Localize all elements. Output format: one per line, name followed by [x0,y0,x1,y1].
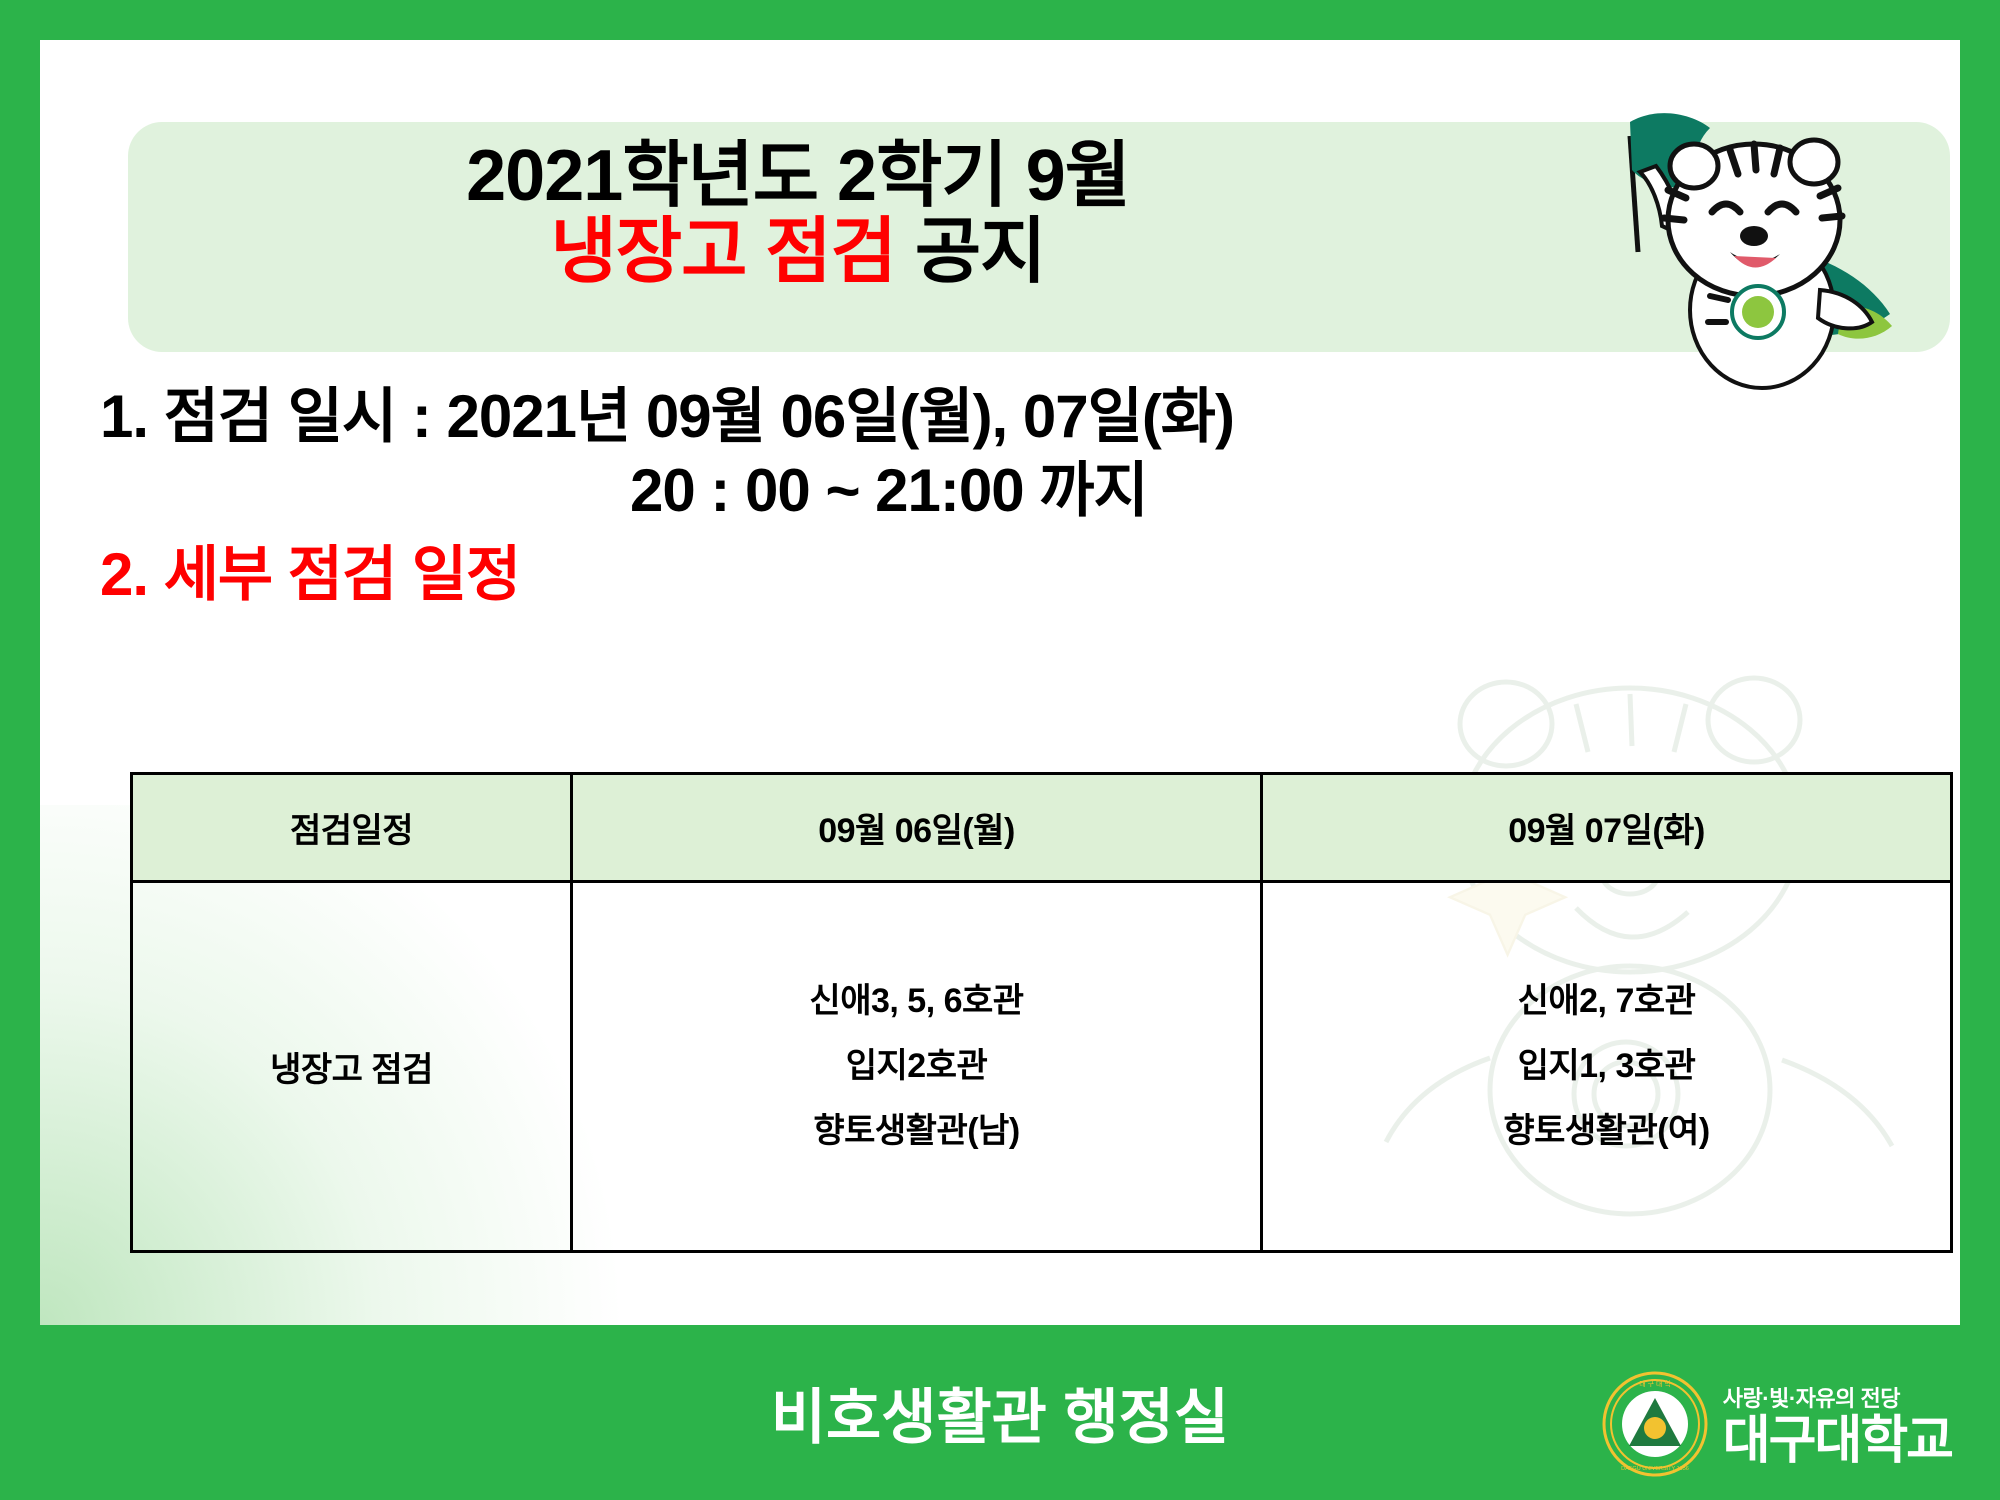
logo-tagline: 사랑·빛·자유의 전당 [1723,1381,1952,1413]
cell-day2-line-2: 입지1, 3호관 [1263,1034,1950,1099]
footer-bar: 비호생활관 행정실 대 구 대 학 DAEGU UNIVERSITY 1956 … [0,1325,2000,1500]
notice-poster: 2021학년도 2학기 9월 냉장고 점검 공지 [0,0,2000,1500]
body-text-block: 1. 점검 일시 : 2021년 09월 06일(월), 07일(화) 20 :… [100,380,1900,614]
inspection-schedule-table: 점검일정 09월 06일(월) 09월 07일(화) 냉장고 점검 신애3, 5… [130,772,1953,1253]
schedule-table-wrapper: 점검일정 09월 06일(월) 09월 07일(화) 냉장고 점검 신애3, 5… [130,772,1950,1253]
logo-university-name: 대구대학교 [1723,1415,1952,1467]
daegu-university-seal-icon: 대 구 대 학 DAEGU UNIVERSITY 1956 [1601,1370,1709,1478]
title-text-block: 2021학년도 2학기 9월 냉장고 점검 공지 [128,138,1468,291]
cell-day1-line-2: 입지2호관 [573,1034,1260,1099]
notice-item-1-time: 20 : 00 ~ 21:00 까지 [100,454,1900,528]
cell-day1-line-3: 향토생활관(남) [573,1099,1260,1164]
university-logo: 대 구 대 학 DAEGU UNIVERSITY 1956 사랑·빛·자유의 전… [1601,1370,1952,1478]
cell-day2-buildings: 신애2, 7호관 입지1, 3호관 향토생활관(여) [1262,882,1952,1252]
logo-wordmark: 사랑·빛·자유의 전당 대구대학교 [1723,1381,1952,1467]
table-header-day2: 09월 07일(화) [1262,774,1952,882]
cell-day2-line-1: 신애2, 7호관 [1263,969,1950,1034]
cell-day1-line-1: 신애3, 5, 6호관 [573,969,1260,1034]
notice-item-1: 1. 점검 일시 : 2021년 09월 06일(월), 07일(화) [100,380,1900,454]
table-header-row: 점검일정 09월 06일(월) 09월 07일(화) [132,774,1952,882]
table-header-schedule: 점검일정 [132,774,572,882]
row-label-fridge-inspection: 냉장고 점검 [132,882,572,1252]
footer-office-name: 비호생활관 행정실 [771,1369,1229,1456]
tiger-mascot-icon [1462,100,1932,410]
title-line-2-highlight: 냉장고 점검 [551,212,896,292]
title-panel: 2021학년도 2학기 9월 냉장고 점검 공지 [128,122,1950,352]
notice-item-2: 2. 세부 점검 일정 [100,535,1900,614]
title-line-2-suffix: 공지 [896,212,1045,292]
table-row: 냉장고 점검 신애3, 5, 6호관 입지2호관 향토생활관(남) 신애2, 7… [132,882,1952,1252]
cell-day1-buildings: 신애3, 5, 6호관 입지2호관 향토생활관(남) [572,882,1262,1252]
cell-day2-line-3: 향토생활관(여) [1263,1099,1950,1164]
title-line-2: 냉장고 점검 공지 [128,214,1468,290]
svg-text:DAEGU UNIVERSITY 1956: DAEGU UNIVERSITY 1956 [1621,1466,1689,1472]
table-header-day1: 09월 06일(월) [572,774,1262,882]
poster-content-area: 2021학년도 2학기 9월 냉장고 점검 공지 [40,40,1960,1325]
title-line-1: 2021학년도 2학기 9월 [128,138,1468,214]
svg-text:대 구 대 학: 대 구 대 학 [1639,1379,1671,1388]
